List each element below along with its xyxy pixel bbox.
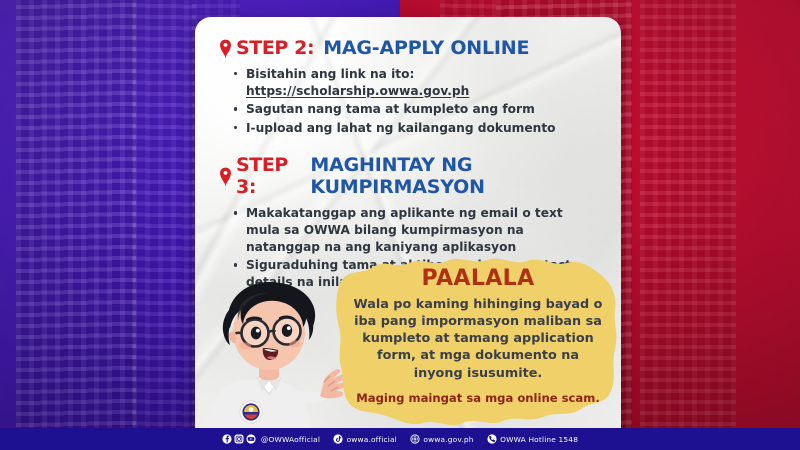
footer-group-tiktok: owwa.official [333, 434, 397, 444]
hotline-number: OWWA Hotline 1548 [500, 435, 578, 444]
list-item: Bisitahin ang link na ito: https://schol… [233, 66, 597, 99]
tiktok-icon[interactable] [333, 434, 343, 444]
footer-group-website: owwa.gov.ph [410, 434, 474, 444]
step-3-title: MAGHINTAY NG KUMPIRMASYON [310, 154, 597, 198]
paalala-reminder-box: PAALALA Wala po kaming hihinging bayad o… [335, 255, 621, 427]
footer-group-hotline: OWWA Hotline 1548 [487, 434, 578, 444]
website-url: owwa.gov.ph [423, 435, 473, 444]
social-icon-row [222, 434, 256, 444]
facebook-icon[interactable] [222, 434, 232, 444]
owwa-student-mascot [199, 260, 351, 450]
handle-owwaofficial: @OWWAofficial [261, 435, 320, 444]
step-2-bullet-list: Bisitahin ang link na ito: https://schol… [233, 66, 597, 136]
step-block-2: STEP 2: MAG-APPLY ONLINE Bisitahin ang l… [219, 37, 597, 136]
scholarship-link[interactable]: https://scholarship.owwa.gov.ph [246, 84, 469, 98]
list-item: I-upload ang lahat ng kailangang dokumen… [233, 120, 597, 137]
footer-group-social: @OWWAofficial [222, 434, 320, 444]
list-item: Sagutan nang tama at kumpleto ang form [233, 101, 597, 118]
step-2-title: MAG-APPLY ONLINE [323, 37, 529, 59]
owwa-logo-badge [240, 401, 262, 423]
step-3-heading: STEP 3: MAGHINTAY NG KUMPIRMASYON [219, 154, 597, 198]
bullet-text: Bisitahin ang link na ito: [246, 67, 414, 81]
paalala-warning: Maging maingat sa mga online scam. [353, 391, 603, 406]
globe-icon[interactable] [410, 434, 420, 444]
map-pin-icon [219, 39, 232, 58]
step-3-number: STEP 3: [236, 154, 301, 198]
list-item: Makakatanggap ang aplikante ng email o t… [233, 205, 597, 255]
instagram-icon[interactable] [234, 434, 244, 444]
info-card: STEP 2: MAG-APPLY ONLINE Bisitahin ang l… [195, 17, 621, 450]
paalala-body: Wala po kaming hihinging bayad o iba pan… [353, 296, 603, 382]
paalala-title: PAALALA [353, 268, 603, 290]
step-2-number: STEP 2: [236, 37, 314, 59]
youtube-icon[interactable] [246, 434, 256, 444]
step-2-heading: STEP 2: MAG-APPLY ONLINE [219, 37, 597, 59]
map-pin-icon [219, 167, 232, 186]
handle-tiktok: owwa.official [347, 435, 397, 444]
phone-icon[interactable] [487, 434, 497, 444]
social-footer-bar: @OWWAofficial owwa.official owwa.gov.ph … [0, 428, 800, 450]
